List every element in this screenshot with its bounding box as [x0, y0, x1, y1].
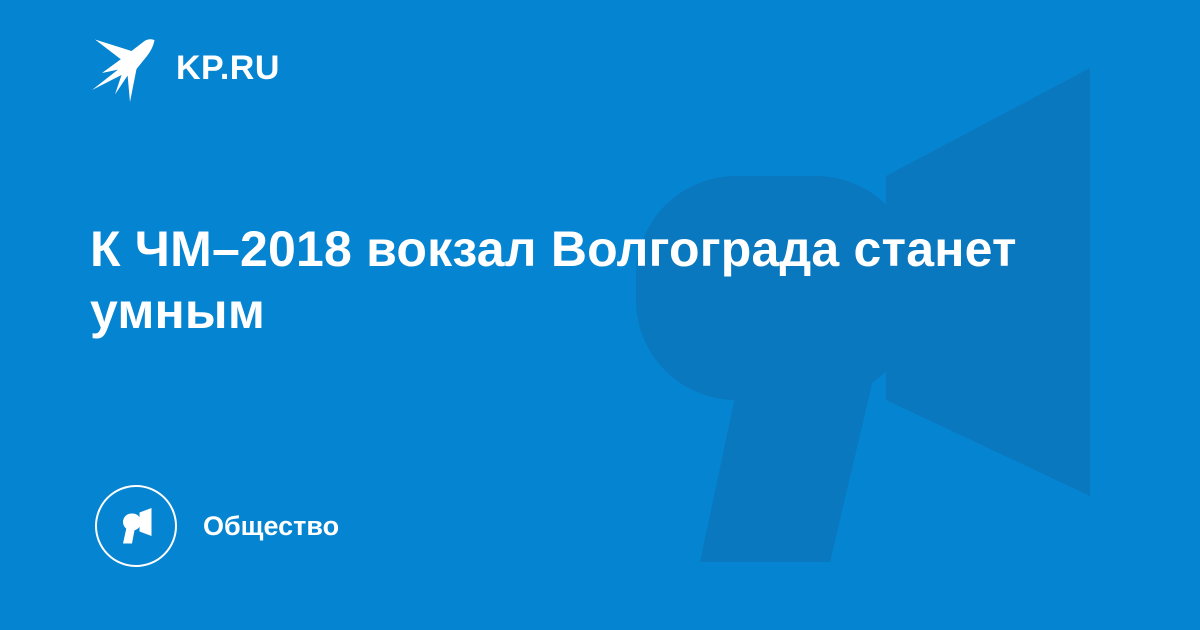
swallow-bird-icon [90, 34, 156, 102]
megaphone-icon [115, 505, 157, 547]
rubric-badge[interactable]: Общество [95, 485, 339, 567]
brand-name: KP.RU [176, 51, 280, 85]
brand-logo[interactable]: KP.RU [90, 34, 280, 102]
rubric-icon-circle [95, 485, 177, 567]
page-title: К ЧМ–2018 вокзал Волгограда станет умным [90, 218, 1020, 342]
social-share-card: KP.RU К ЧМ–2018 вокзал Волгограда станет… [0, 0, 1200, 630]
rubric-label: Общество [203, 513, 339, 540]
